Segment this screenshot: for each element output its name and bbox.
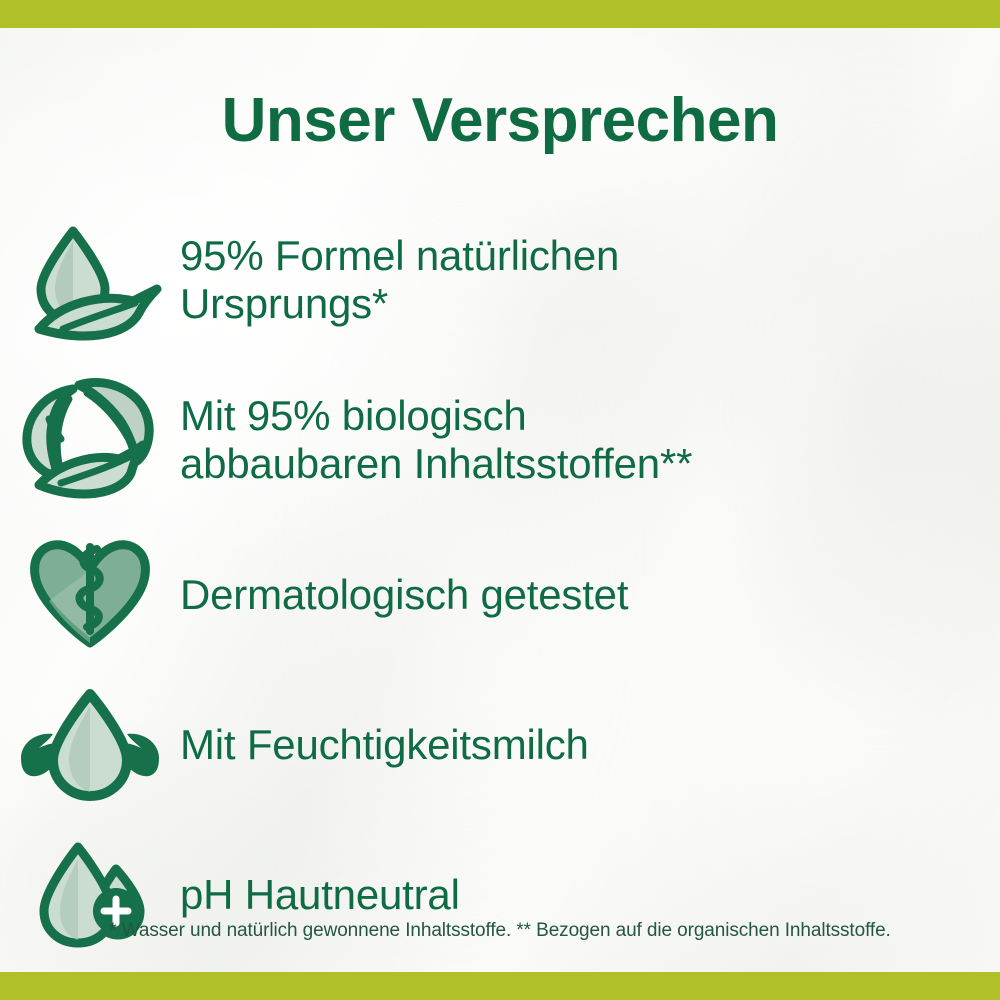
brand-band-bottom	[0, 972, 1000, 1000]
promise-row-ph-neutral: pH Hautneutral	[0, 820, 1000, 970]
promise-text: Mit Feuchtigkeitsmilch	[180, 721, 1000, 769]
brand-band-top	[0, 0, 1000, 28]
promise-text: Dermatologisch getestet	[180, 571, 1000, 619]
promise-row-dermatologically-tested: Dermatologisch getestet	[0, 520, 1000, 670]
promise-line: Dermatologisch getestet	[180, 571, 960, 619]
promise-row-biodegradable: Mit 95% biologisch abbaubaren Inhaltssto…	[0, 360, 1000, 520]
heart-asclepius-icon	[0, 525, 180, 665]
droplet-leaf-icon	[0, 210, 180, 350]
promise-line: 95% Formel natürlichen	[180, 232, 960, 280]
promise-line: Mit Feuchtigkeitsmilch	[180, 721, 960, 769]
promise-text: pH Hautneutral	[180, 871, 1000, 919]
page-title: Unser Versprechen	[0, 88, 1000, 153]
promise-line: abbaubaren Inhaltsstoffen**	[180, 440, 960, 488]
droplet-two-leaves-icon	[0, 675, 180, 815]
promise-row-moisturizing-milk: Mit Feuchtigkeitsmilch	[0, 670, 1000, 820]
promise-line: Mit 95% biologisch	[180, 392, 960, 440]
promise-panel: Unser Versprechen 95% Formel natürlichen…	[0, 0, 1000, 1000]
promise-line: pH Hautneutral	[180, 871, 960, 919]
promise-text: 95% Formel natürlichen Ursprungs*	[180, 232, 1000, 328]
promise-row-natural-origin: 95% Formel natürlichen Ursprungs*	[0, 200, 1000, 360]
promise-line: Ursprungs*	[180, 280, 960, 328]
promise-list: 95% Formel natürlichen Ursprungs*	[0, 200, 1000, 970]
footnote: * Wasser und natürlich gewonnene Inhalts…	[0, 920, 1000, 942]
droplet-plus-icon	[0, 825, 180, 965]
three-leaves-recycle-icon	[0, 370, 180, 510]
promise-text: Mit 95% biologisch abbaubaren Inhaltssto…	[180, 392, 1000, 488]
